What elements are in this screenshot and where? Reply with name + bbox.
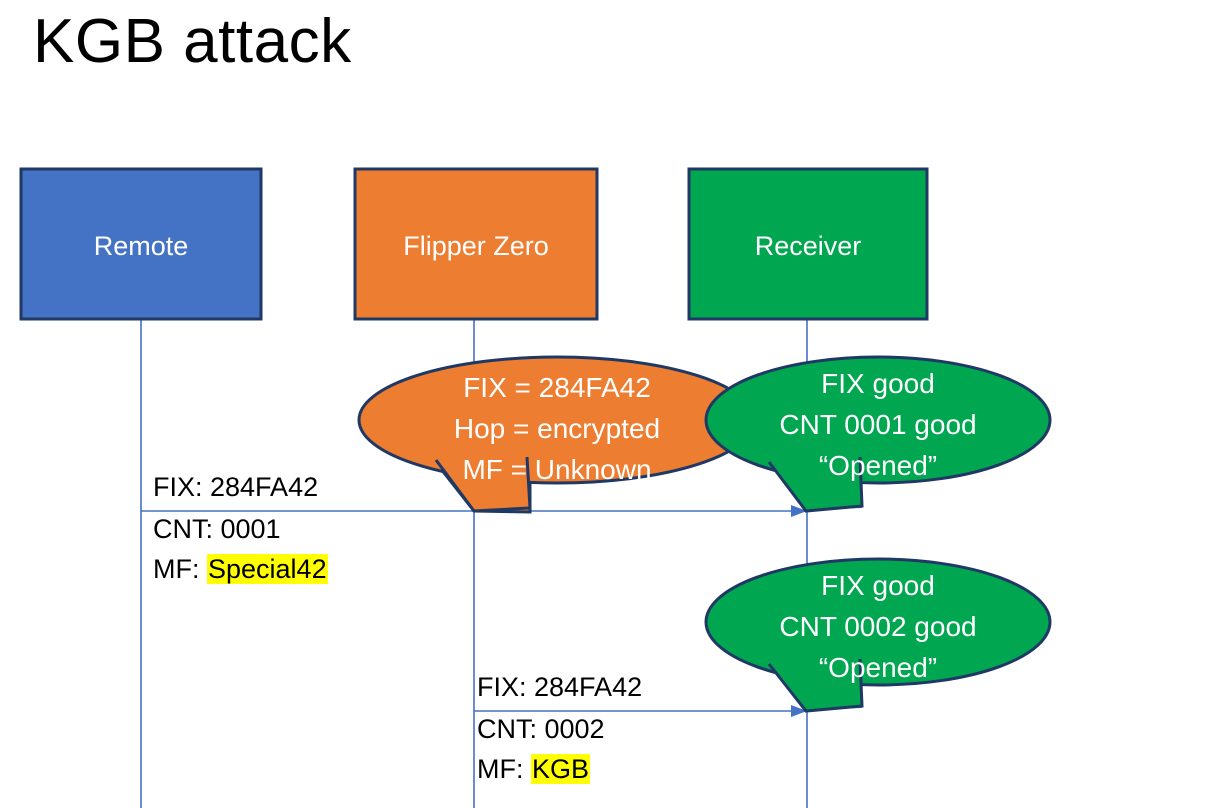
message-2-mf-prefix: MF: (477, 754, 531, 784)
message-1-mf-prefix: MF: (153, 554, 207, 584)
message-2-mf-value: KGB (531, 754, 590, 784)
callout-flipper-line-2: Hop = encrypted (359, 408, 755, 449)
callout-flipper-line-3: MF = Unknown (359, 449, 755, 490)
message-2-mf-label: MF: KGB (477, 748, 590, 790)
actor-label-flipper: Flipper Zero (355, 231, 597, 262)
callout-receiver-2-text: FIX good CNT 0002 good “Opened” (706, 565, 1050, 688)
actor-label-receiver: Receiver (689, 231, 927, 262)
message-2-fix-label: FIX: 284FA42 (477, 666, 642, 708)
actor-label-remote: Remote (21, 231, 261, 262)
callout-receiver-1-line-3: “Opened” (706, 445, 1050, 486)
callout-receiver-2-line-2: CNT 0002 good (706, 606, 1050, 647)
callout-flipper-text: FIX = 284FA42 Hop = encrypted MF = Unkno… (359, 367, 755, 490)
message-1-mf-value: Special42 (207, 554, 328, 584)
message-1-cnt-label: CNT: 0001 (153, 508, 281, 550)
callout-receiver-1-line-1: FIX good (706, 363, 1050, 404)
message-1-mf-label: MF: Special42 (153, 548, 328, 590)
message-2-cnt-label: CNT: 0002 (477, 708, 605, 750)
callout-receiver-1-line-2: CNT 0001 good (706, 404, 1050, 445)
callout-flipper-line-1: FIX = 284FA42 (359, 367, 755, 408)
slide-canvas: KGB attack (0, 0, 1218, 808)
message-1-fix-label: FIX: 284FA42 (153, 466, 318, 508)
callout-receiver-1-text: FIX good CNT 0001 good “Opened” (706, 363, 1050, 486)
callout-receiver-2-line-3: “Opened” (706, 647, 1050, 688)
callout-receiver-2-line-1: FIX good (706, 565, 1050, 606)
